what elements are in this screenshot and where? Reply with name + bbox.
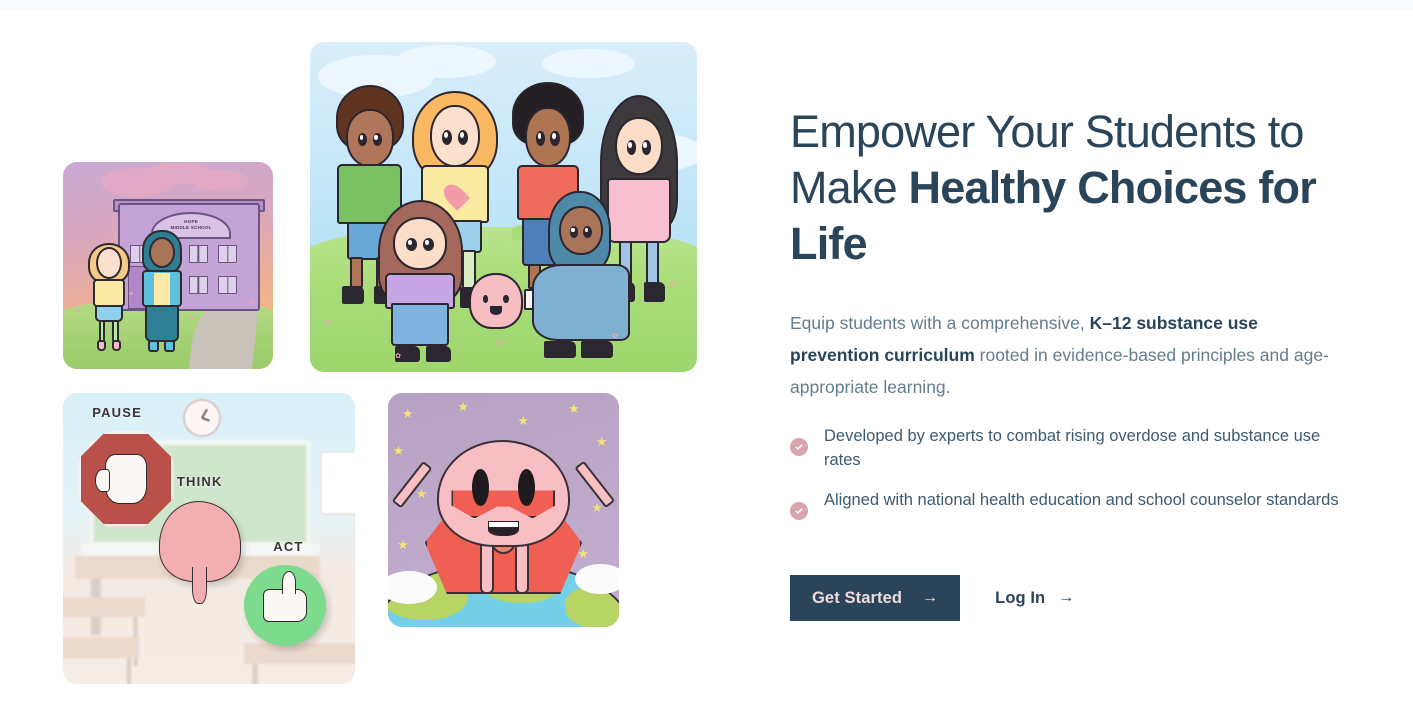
cloud bbox=[575, 564, 619, 594]
log-in-label: Log In bbox=[995, 589, 1045, 608]
eye bbox=[536, 131, 545, 146]
list-item: Developed by experts to combat rising ov… bbox=[790, 424, 1350, 472]
face bbox=[525, 107, 571, 167]
cloud bbox=[542, 49, 635, 79]
star-icon: ★ bbox=[596, 435, 608, 448]
star-decoration: ✦ bbox=[250, 299, 256, 307]
eye bbox=[503, 295, 509, 303]
flower-decoration: ✿ bbox=[612, 332, 618, 340]
hero-subcopy: Equip students with a comprehensive, K–1… bbox=[790, 307, 1346, 403]
eye bbox=[442, 130, 452, 145]
student-blonde bbox=[86, 245, 132, 353]
classroom-scene: PAUSE THINK ACT bbox=[63, 393, 355, 684]
eye bbox=[583, 226, 592, 238]
hand-icon bbox=[105, 454, 147, 504]
eye bbox=[373, 133, 382, 147]
window bbox=[189, 276, 208, 295]
star-icon: ★ bbox=[457, 400, 469, 413]
cloud bbox=[388, 571, 437, 604]
overalls bbox=[391, 303, 449, 346]
arrow-right-icon: → bbox=[1058, 589, 1074, 607]
get-started-button[interactable]: Get Started → bbox=[790, 575, 960, 621]
eye bbox=[406, 238, 417, 251]
star-icon: ★ bbox=[568, 402, 580, 415]
think-label: THINK bbox=[177, 474, 223, 489]
eye bbox=[423, 238, 434, 251]
eye bbox=[570, 226, 579, 238]
mouth bbox=[488, 521, 519, 537]
flower-decoration: ✿ bbox=[496, 339, 502, 347]
star-icon: ★ bbox=[416, 487, 428, 500]
shoe bbox=[544, 341, 577, 358]
subcopy-part1: Equip students with a comprehensive, bbox=[790, 313, 1090, 333]
window bbox=[218, 276, 237, 295]
face bbox=[393, 217, 447, 270]
school-scene: HOPE MIDDLE SCHOOL bbox=[63, 162, 273, 369]
eye bbox=[458, 130, 468, 145]
arrow-right-icon: → bbox=[922, 589, 938, 607]
get-started-label: Get Started bbox=[812, 589, 902, 608]
shoe bbox=[342, 286, 364, 304]
list-item-label: Developed by experts to combat rising ov… bbox=[824, 424, 1344, 472]
eye bbox=[550, 131, 559, 146]
collage-image-superhero-brain: ★ ★ ★ ★ ★ ★ ★ ★ ★ ★ bbox=[388, 393, 619, 627]
mask bbox=[451, 487, 555, 518]
brain-mascot bbox=[469, 273, 523, 329]
student-desk bbox=[63, 637, 139, 657]
thumbs-up-icon bbox=[244, 565, 326, 646]
shoe bbox=[581, 341, 614, 358]
face bbox=[559, 206, 603, 255]
list-item: Aligned with national health education a… bbox=[790, 488, 1350, 520]
child-hijab-seated bbox=[523, 191, 639, 366]
shoe bbox=[164, 340, 175, 352]
shoe bbox=[112, 340, 121, 352]
mouth bbox=[490, 306, 502, 314]
flower-decoration: ✿ bbox=[325, 319, 331, 327]
collage-image-kids-group: ✿ ✿ ✿ ✿ ✿ bbox=[310, 42, 697, 372]
star-icon: ★ bbox=[402, 407, 414, 420]
feature-list: Developed by experts to combat rising ov… bbox=[790, 424, 1350, 536]
eye bbox=[483, 295, 489, 303]
face bbox=[346, 109, 393, 166]
legging bbox=[646, 241, 660, 285]
inner-top bbox=[154, 273, 170, 305]
cloud bbox=[193, 170, 248, 191]
thumb-glyph bbox=[263, 589, 307, 622]
collage-image-school-front: HOPE MIDDLE SCHOOL bbox=[63, 162, 273, 369]
cloud bbox=[395, 45, 496, 78]
eye bbox=[642, 140, 652, 154]
face bbox=[149, 237, 175, 268]
shoe bbox=[644, 282, 665, 302]
hero-page: HOPE MIDDLE SCHOOL bbox=[0, 0, 1413, 719]
sock bbox=[99, 320, 105, 342]
flower-decoration: ✿ bbox=[395, 352, 401, 360]
star-icon: ★ bbox=[393, 444, 405, 457]
check-circle-icon bbox=[790, 438, 808, 456]
check-circle-icon bbox=[790, 502, 808, 520]
student-desk bbox=[244, 643, 355, 663]
pause-label: PAUSE bbox=[92, 405, 142, 420]
eye bbox=[627, 140, 637, 154]
log-in-link[interactable]: Log In → bbox=[995, 589, 1074, 608]
wall-poster bbox=[320, 451, 355, 515]
shoe bbox=[148, 340, 159, 352]
hero-content: Empower Your Students to Make Healthy Ch… bbox=[790, 0, 1360, 719]
flower-decoration: ✿ bbox=[670, 280, 676, 288]
student-desk bbox=[63, 597, 145, 617]
star-icon: ★ bbox=[397, 538, 409, 551]
image-collage: HOPE MIDDLE SCHOOL bbox=[0, 0, 760, 719]
star-decoration: ✦ bbox=[189, 315, 195, 323]
sock bbox=[112, 320, 118, 342]
eye bbox=[358, 133, 367, 147]
shoe bbox=[97, 340, 106, 352]
star-icon: ★ bbox=[517, 414, 529, 427]
shirt bbox=[93, 279, 124, 307]
collage-image-pause-think-act: PAUSE THINK ACT bbox=[63, 393, 355, 684]
face bbox=[615, 117, 663, 176]
page-title: Empower Your Students to Make Healthy Ch… bbox=[790, 104, 1350, 272]
student-hijab bbox=[137, 230, 187, 354]
superhero-brain-scene: ★ ★ ★ ★ ★ ★ ★ ★ ★ ★ bbox=[388, 393, 619, 627]
child-overalls bbox=[372, 200, 469, 365]
star-decoration: ✦ bbox=[128, 290, 134, 298]
window bbox=[189, 245, 208, 264]
window bbox=[218, 245, 237, 264]
clock-icon bbox=[183, 399, 221, 437]
cta-row: Get Started → Log In → bbox=[790, 575, 1074, 621]
kids-scene: ✿ ✿ ✿ ✿ ✿ bbox=[310, 42, 697, 372]
list-item-label: Aligned with national health education a… bbox=[824, 488, 1339, 512]
face bbox=[430, 105, 480, 167]
star-decoration: ✦ bbox=[76, 307, 82, 315]
act-label: ACT bbox=[273, 539, 303, 554]
dress bbox=[532, 264, 630, 341]
shoe bbox=[426, 346, 451, 363]
eye bbox=[518, 469, 535, 506]
leg bbox=[350, 257, 363, 288]
skirt bbox=[145, 305, 179, 342]
